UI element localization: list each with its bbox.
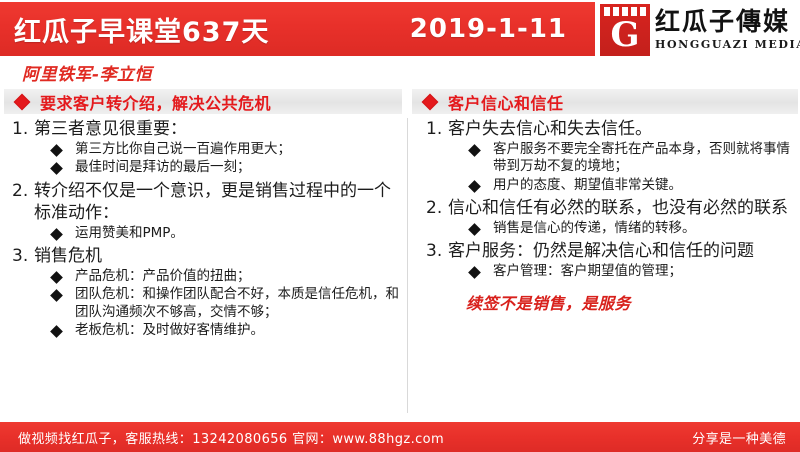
sub-list: 客户管理：客户期望值的管理； (448, 263, 800, 280)
list-item: 3. 客户服务：仍然是解决信心和信任的问题 客户管理：客户期望值的管理； (412, 240, 800, 282)
section-header-left: 要求客户转介绍，解决公共危机 (4, 89, 402, 114)
sub-list-item-text: 最佳时间是拜访的最后一刻； (75, 159, 404, 176)
logo-wordmark: 红瓜子傳媒 HONGGUAZI MEDIA (655, 9, 800, 50)
logo-name-en: HONGGUAZI MEDIA (655, 38, 800, 51)
sub-list-item-text: 团队危机：和操作团队配合不好，本质是信任危机，和团队沟通频次不够高，交情不够； (75, 286, 404, 321)
content-column-left: 1. 第三者意见很重要： 第三方比你自己说一百遍作用更大； 最佳时间是拜访的最后… (4, 118, 404, 342)
sub-list: 运用赞美和PMP。 (34, 225, 404, 242)
list-item-body: 转介绍不仅是一个意识，更是销售过程中的一个标准动作： 运用赞美和PMP。 (34, 180, 404, 244)
diamond-bullet-icon (468, 223, 481, 236)
list-item-text: 客户失去信心和失去信任。 (448, 118, 800, 140)
slide-footer: 做视频找红瓜子，客服热线：13242080656 官网：www.88hgz.co… (0, 422, 800, 452)
sub-list-item-text: 客户服务不要完全寄托在产品本身，否则就将事情带到万劫不复的境地； (493, 141, 800, 176)
tagline: 续签不是销售，是服务 (412, 290, 800, 314)
list-item: 1. 客户失去信心和失去信任。 客户服务不要完全寄托在产品本身，否则就将事情带到… (412, 118, 800, 196)
list-item-body: 信心和信任有必然的联系，也没有必然的联系 销售是信心的传递，情绪的转移。 (448, 197, 800, 239)
logo-letter: G (600, 14, 650, 56)
list-item: 3. 销售危机 产品危机：产品价值的扭曲； 团队危机：和操作团队配合不好，本质是… (4, 245, 404, 341)
brand-logo: G 红瓜子傳媒 HONGGUAZI MEDIA (600, 1, 798, 59)
diamond-bullet-icon (50, 325, 63, 338)
sub-list-item-text: 运用赞美和PMP。 (75, 225, 404, 242)
diamond-bullet-icon (468, 144, 481, 157)
list-item-number: 3. (4, 245, 34, 267)
list-item-number: 1. (412, 118, 448, 140)
diamond-bullet-icon (422, 93, 439, 110)
footer-slogan: 分享是一种美德 (692, 428, 786, 447)
diamond-bullet-icon (50, 290, 63, 303)
logo-filmstrip-icon: G (600, 4, 650, 56)
diamond-bullet-icon (468, 266, 481, 279)
title-bar: 红瓜子早课堂637天 2019-1-11 (0, 2, 595, 56)
sub-list-item-text: 老板危机：及时做好客情维护。 (75, 322, 404, 339)
sub-list-item: 客户管理：客户期望值的管理； (448, 263, 800, 280)
page-title: 红瓜子早课堂637天 (14, 10, 269, 49)
list-item-body: 第三者意见很重要： 第三方比你自己说一百遍作用更大； 最佳时间是拜访的最后一刻； (34, 118, 404, 179)
sub-list-item: 最佳时间是拜访的最后一刻； (34, 159, 404, 176)
list-item-text: 客户服务：仍然是解决信心和信任的问题 (448, 240, 800, 262)
list-item-number: 1. (4, 118, 34, 140)
column-divider (407, 118, 408, 413)
logo-name-cn: 红瓜子傳媒 (655, 9, 800, 35)
list-item-text: 转介绍不仅是一个意识，更是销售过程中的一个标准动作： (34, 180, 404, 224)
sub-list-item: 第三方比你自己说一百遍作用更大； (34, 141, 404, 158)
numbered-list-left: 1. 第三者意见很重要： 第三方比你自己说一百遍作用更大； 最佳时间是拜访的最后… (4, 118, 404, 341)
sub-list: 第三方比你自己说一百遍作用更大； 最佳时间是拜访的最后一刻； (34, 141, 404, 177)
diamond-bullet-icon (468, 180, 481, 193)
sub-list-item-text: 用户的态度、期望值非常关键。 (493, 177, 800, 194)
sub-list-item-text: 客户管理：客户期望值的管理； (493, 263, 800, 280)
sub-list-item: 销售是信心的传递，情绪的转移。 (448, 220, 800, 237)
list-item-text: 销售危机 (34, 245, 404, 267)
list-item: 2. 转介绍不仅是一个意识，更是销售过程中的一个标准动作： 运用赞美和PMP。 (4, 180, 404, 244)
list-item: 2. 信心和信任有必然的联系，也没有必然的联系 销售是信心的传递，情绪的转移。 (412, 197, 800, 239)
diamond-bullet-icon (50, 228, 63, 241)
slide-header: 红瓜子早课堂637天 2019-1-11 G 红瓜子傳媒 HONGGUAZI M… (0, 0, 800, 62)
footer-contact-text: 做视频找红瓜子，客服热线：13242080656 官网：www.88hgz.co… (18, 428, 444, 447)
date-label: 2019-1-11 (410, 14, 567, 44)
list-item-body: 客户失去信心和失去信任。 客户服务不要完全寄托在产品本身，否则就将事情带到万劫不… (448, 118, 800, 196)
section-heading-right-label: 客户信心和信任 (448, 90, 564, 114)
section-header-right: 客户信心和信任 (412, 89, 798, 114)
list-item-text: 信心和信任有必然的联系，也没有必然的联系 (448, 197, 800, 219)
sub-list-item-text: 产品危机：产品价值的扭曲； (75, 268, 404, 285)
numbered-list-right: 1. 客户失去信心和失去信任。 客户服务不要完全寄托在产品本身，否则就将事情带到… (412, 118, 800, 283)
list-item-body: 客户服务：仍然是解决信心和信任的问题 客户管理：客户期望值的管理； (448, 240, 800, 282)
list-item-text: 第三者意见很重要： (34, 118, 404, 140)
list-item-number: 2. (412, 197, 448, 219)
sub-list-item: 老板危机：及时做好客情维护。 (34, 322, 404, 339)
sub-list: 产品危机：产品价值的扭曲； 团队危机：和操作团队配合不好，本质是信任危机，和团队… (34, 268, 404, 339)
content-column-right: 1. 客户失去信心和失去信任。 客户服务不要完全寄托在产品本身，否则就将事情带到… (412, 118, 800, 314)
subtitle: 阿里铁军-李立恒 (22, 60, 152, 85)
list-item: 1. 第三者意见很重要： 第三方比你自己说一百遍作用更大； 最佳时间是拜访的最后… (4, 118, 404, 179)
diamond-bullet-icon (50, 271, 63, 284)
sub-list-item-text: 第三方比你自己说一百遍作用更大； (75, 141, 404, 158)
list-item-body: 销售危机 产品危机：产品价值的扭曲； 团队危机：和操作团队配合不好，本质是信任危… (34, 245, 404, 341)
sub-list-item: 团队危机：和操作团队配合不好，本质是信任危机，和团队沟通频次不够高，交情不够； (34, 286, 404, 321)
section-heading-left-label: 要求客户转介绍，解决公共危机 (40, 90, 271, 114)
diamond-bullet-icon (50, 162, 63, 175)
sub-list: 销售是信心的传递，情绪的转移。 (448, 220, 800, 237)
sub-list-item-text: 销售是信心的传递，情绪的转移。 (493, 220, 800, 237)
list-item-number: 3. (412, 240, 448, 262)
diamond-bullet-icon (14, 93, 31, 110)
sub-list: 客户服务不要完全寄托在产品本身，否则就将事情带到万劫不复的境地； 用户的态度、期… (448, 141, 800, 194)
sub-list-item: 产品危机：产品价值的扭曲； (34, 268, 404, 285)
list-item-number: 2. (4, 180, 34, 202)
sub-list-item: 客户服务不要完全寄托在产品本身，否则就将事情带到万劫不复的境地； (448, 141, 800, 176)
slide-root: 红瓜子早课堂637天 2019-1-11 G 红瓜子傳媒 HONGGUAZI M… (0, 0, 800, 452)
sub-list-item: 用户的态度、期望值非常关键。 (448, 177, 800, 194)
diamond-bullet-icon (50, 144, 63, 157)
sub-list-item: 运用赞美和PMP。 (34, 225, 404, 242)
